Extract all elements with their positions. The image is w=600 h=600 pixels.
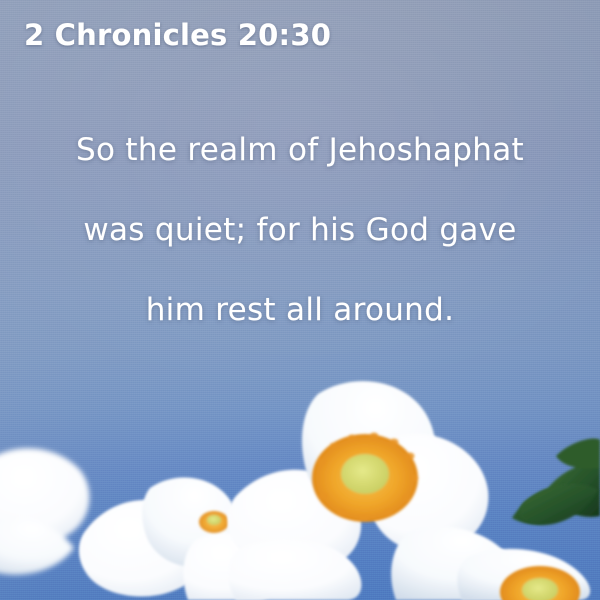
verse-line-3: him rest all around. [0,270,600,350]
leaf-overlay-right [520,484,598,525]
flower-left-partial [0,448,89,574]
flower-photo-layer [0,370,600,600]
verse-text-block: So the realm of Jehoshaphat was quiet; f… [0,110,600,350]
flower-lower-right [457,549,590,600]
flower-center-lower-left [199,511,229,533]
verse-line-1: So the realm of Jehoshaphat [0,110,600,190]
verse-line-2: was quiet; for his God gave [0,190,600,270]
scripture-reference: 2 Chronicles 20:30 [24,20,331,52]
verse-image-canvas: 2 Chronicles 20:30 So the realm of Jehos… [0,0,600,600]
